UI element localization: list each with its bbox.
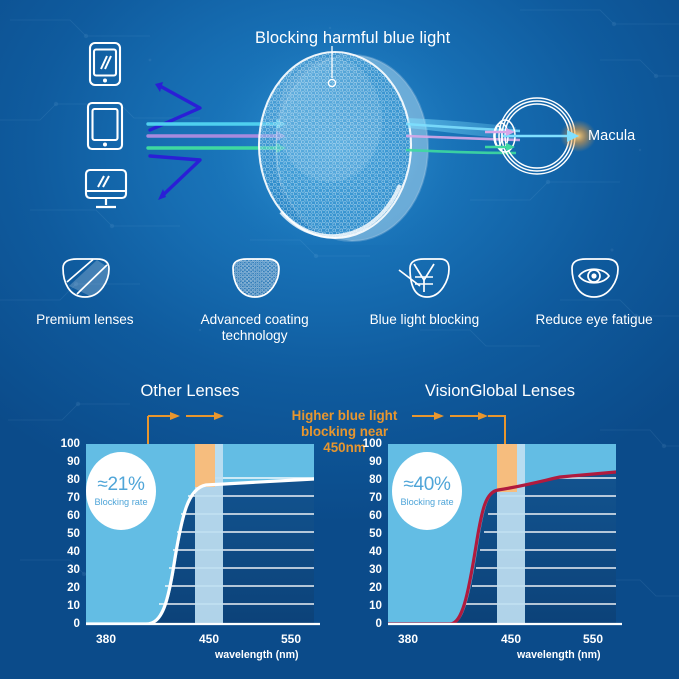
feature-label: Advanced coating technology xyxy=(180,312,330,343)
smartphone-icon xyxy=(90,43,120,85)
lens-callout-label: Blocking harmful blue light xyxy=(255,29,450,48)
monitor-icon xyxy=(86,170,126,207)
blocking-rate-value: ≈40% xyxy=(403,474,450,496)
x-axis-caption-visionglobal: wavelength (nm) xyxy=(517,649,601,661)
charts-section: Other Lenses VisionGlobal Lenses Higher … xyxy=(0,370,679,679)
feature-label: Premium lenses xyxy=(36,312,133,328)
feature-label: Reduce eye fatigue xyxy=(536,312,653,328)
feature-advanced-coating[interactable]: Advanced coating technology xyxy=(170,250,340,360)
blocking-rate-caption: Blocking rate xyxy=(94,497,147,507)
chart-panel-visionglobal-lenses: 100 90 80 70 60 50 40 30 20 10 0 380 450… xyxy=(348,436,648,671)
blocking-rate-value: ≈21% xyxy=(97,474,144,496)
hero-diagram: Blocking harmful blue light Macula xyxy=(0,0,679,245)
device-stack xyxy=(80,40,140,220)
blocking-rate-badge-visionglobal: ≈40% Blocking rate xyxy=(392,452,462,530)
lens-shine-icon xyxy=(57,256,113,300)
macula-label: Macula xyxy=(588,128,635,144)
feature-row: Premium lenses Advanced coating technolo… xyxy=(0,250,679,360)
chart-panel-other-lenses: 100 90 80 70 60 50 40 30 20 10 0 380 450… xyxy=(38,436,338,671)
feature-label: Blue light blocking xyxy=(370,312,480,328)
feature-blue-light-blocking[interactable]: Blue light blocking xyxy=(340,250,510,360)
eye-anatomy xyxy=(485,85,595,190)
feature-premium-lenses[interactable]: Premium lenses xyxy=(0,250,170,360)
lens-mesh-icon xyxy=(227,256,283,300)
x-axis-caption-other: wavelength (nm) xyxy=(215,649,299,661)
blocking-rate-caption: Blocking rate xyxy=(400,497,453,507)
blue-block-icon xyxy=(396,256,452,300)
chart-title-other: Other Lenses xyxy=(60,382,320,401)
infographic-root: Blocking harmful blue light Macula Premi… xyxy=(0,0,679,679)
feature-reduce-eye-fatigue[interactable]: Reduce eye fatigue xyxy=(509,250,679,360)
blocking-rate-badge-other: ≈21% Blocking rate xyxy=(86,452,156,530)
chart-title-visionglobal: VisionGlobal Lenses xyxy=(370,382,630,401)
eye-icon xyxy=(566,256,622,300)
tablet-icon xyxy=(88,103,122,149)
